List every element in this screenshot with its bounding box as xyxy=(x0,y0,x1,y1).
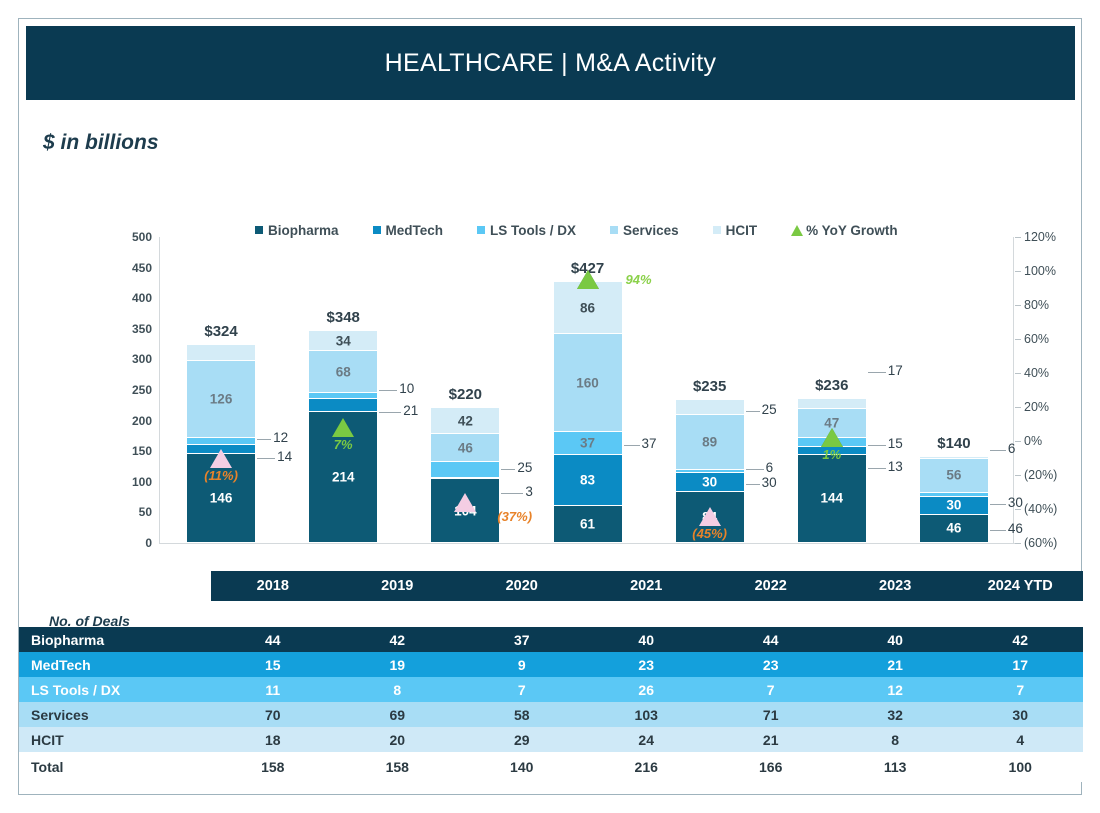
segment-value: 146 xyxy=(187,490,255,505)
callout-value: 13 xyxy=(888,459,903,474)
segment-biopharma[interactable]: 61 xyxy=(554,506,622,543)
segment-value: 61 xyxy=(554,516,622,531)
callout-leader-line xyxy=(379,412,401,413)
segment-value: 83 xyxy=(554,472,622,487)
cell-value: 26 xyxy=(584,677,708,702)
cell-value: 71 xyxy=(708,702,832,727)
segment-ls-tools-dx[interactable]: 37 xyxy=(554,432,622,455)
bar-total-label: $427 xyxy=(542,260,634,277)
callout-leader-line xyxy=(990,504,1006,505)
legend-label: Services xyxy=(623,223,679,238)
callout-leader-line xyxy=(990,530,1006,531)
segment-value: 42 xyxy=(431,413,499,428)
x-axis-line xyxy=(159,543,1015,544)
bar-total-label: $324 xyxy=(175,323,267,340)
cell-value: 2022 xyxy=(708,571,832,601)
callout-leader-line xyxy=(746,484,760,485)
segment-value: 68 xyxy=(309,364,377,379)
segment-biopharma[interactable]: 144 xyxy=(798,455,866,543)
table-spacer-row xyxy=(19,601,1083,627)
bar-2022[interactable]: 893084$235 xyxy=(676,400,744,543)
segment-value: 160 xyxy=(554,375,622,390)
cell-value: 158 xyxy=(211,752,335,782)
y-axis-tick-left: 450 xyxy=(132,261,152,275)
cell-value: 69 xyxy=(335,702,459,727)
row-label xyxy=(19,571,211,601)
table-row: MedTech1519923232117 xyxy=(19,652,1083,677)
cell-value: 7 xyxy=(957,677,1083,702)
legend-item-yoy-growth[interactable]: % YoY Growth xyxy=(791,223,898,238)
cell-value: 30 xyxy=(957,702,1083,727)
row-label: Services xyxy=(19,702,211,727)
segment-value: 30 xyxy=(920,498,988,513)
callout-value: 25 xyxy=(762,402,777,417)
cell-value: 23 xyxy=(584,652,708,677)
y-axis-tick-right: (40%) xyxy=(1024,502,1057,516)
y-axis-tick-mark xyxy=(1015,373,1021,374)
cell-value: 29 xyxy=(459,727,583,752)
chart-area: BiopharmaMedTechLS Tools / DXServicesHCI… xyxy=(19,199,1083,579)
bar-2018[interactable]: 126146$324 xyxy=(187,345,255,543)
cell-value: 140 xyxy=(459,752,583,782)
y-axis-tick-mark xyxy=(1015,271,1021,272)
y-axis-tick-right: 40% xyxy=(1024,366,1049,380)
cell-value: 2019 xyxy=(335,571,459,601)
cell-value: 2023 xyxy=(833,571,957,601)
cell-value: 18 xyxy=(211,727,335,752)
segment-services[interactable]: 56 xyxy=(920,459,988,493)
row-label: LS Tools / DX xyxy=(19,677,211,702)
bar-total-label: $140 xyxy=(908,435,1000,452)
cell-value: 113 xyxy=(833,752,957,782)
legend-label: HCIT xyxy=(726,223,758,238)
segment-medtech[interactable] xyxy=(187,445,255,454)
y-axis-tick-mark xyxy=(1015,441,1021,442)
y-axis-tick-right: 80% xyxy=(1024,298,1049,312)
segment-value: 144 xyxy=(798,491,866,506)
cell-value: 44 xyxy=(708,627,832,652)
segment-hcit[interactable]: 86 xyxy=(554,282,622,335)
bar-2021[interactable]: 86160378361$427 xyxy=(554,282,622,543)
segment-value: 89 xyxy=(676,434,744,449)
segment-value: 126 xyxy=(187,391,255,406)
y-axis-tick-left: 150 xyxy=(132,444,152,458)
legend-item-medtech[interactable]: MedTech xyxy=(373,223,444,238)
table-row: Services706958103713230 xyxy=(19,702,1083,727)
growth-triangle-icon xyxy=(791,225,803,236)
cell-value: 70 xyxy=(211,702,335,727)
table-header-row: 2018201920202021202220232024 YTD xyxy=(19,571,1083,601)
y-axis-tick-mark xyxy=(1015,543,1021,544)
y-axis-tick-left: 0 xyxy=(145,536,152,550)
callout-leader-line xyxy=(501,469,515,470)
cell-value: 216 xyxy=(584,752,708,782)
row-label: MedTech xyxy=(19,652,211,677)
segment-value: 214 xyxy=(309,470,377,485)
y-axis-tick-right: (60%) xyxy=(1024,536,1057,550)
segment-value: 84 xyxy=(676,509,744,524)
cell-value: 21 xyxy=(708,727,832,752)
segment-hcit[interactable]: 42 xyxy=(431,408,499,434)
y-axis-tick-left: 300 xyxy=(132,352,152,366)
legend-label: % YoY Growth xyxy=(806,223,898,238)
callout-value: 10 xyxy=(399,381,414,396)
legend-item-services[interactable]: Services xyxy=(610,223,679,238)
cell-value: 9 xyxy=(459,652,583,677)
y-axis-tick-mark xyxy=(1015,407,1021,408)
legend-item-biopharma[interactable]: Biopharma xyxy=(255,223,339,238)
segment-value: 56 xyxy=(920,468,988,483)
table-row: LS Tools / DX1187267127 xyxy=(19,677,1083,702)
y-axis-tick-mark xyxy=(1015,339,1021,340)
legend-swatch-icon xyxy=(477,226,485,234)
table-total-row: Total158158140216166113100 xyxy=(19,752,1083,782)
spacer-cell xyxy=(19,601,1083,627)
subtitle: $ in billions xyxy=(43,131,159,155)
segment-value: 34 xyxy=(309,333,377,348)
cell-value: 7 xyxy=(459,677,583,702)
table-row: HCIT182029242184 xyxy=(19,727,1083,752)
callout-leader-line xyxy=(624,445,640,446)
segment-medtech[interactable]: 30 xyxy=(676,473,744,491)
y-axis-tick-mark xyxy=(1015,237,1021,238)
cell-value: 7 xyxy=(708,677,832,702)
y-axis-tick-left: 100 xyxy=(132,475,152,489)
y-axis-tick-left: 500 xyxy=(132,230,152,244)
callout-leader-line xyxy=(746,411,760,412)
deals-table-wrap: No. of Deals 201820192020202120222023202… xyxy=(19,571,1083,782)
y-axis-tick-right: 60% xyxy=(1024,332,1049,346)
legend-swatch-icon xyxy=(713,226,721,234)
segment-hcit[interactable] xyxy=(676,400,744,415)
segment-value: 86 xyxy=(554,300,622,315)
row-label: Biopharma xyxy=(19,627,211,652)
callout-value: 14 xyxy=(277,449,292,464)
row-label: Total xyxy=(19,752,211,782)
callout-leader-line xyxy=(868,468,886,469)
deals-table: 2018201920202021202220232024 YTDBiopharm… xyxy=(19,571,1083,782)
callout-value: 15 xyxy=(888,436,903,451)
segment-medtech[interactable]: 30 xyxy=(920,497,988,515)
segment-value: 46 xyxy=(920,521,988,536)
cell-value: 32 xyxy=(833,702,957,727)
cell-value: 40 xyxy=(833,627,957,652)
segment-biopharma[interactable]: 214 xyxy=(309,412,377,543)
bar-total-label: $236 xyxy=(786,377,878,394)
callout-leader-line xyxy=(257,439,271,440)
callout-value: 6 xyxy=(766,460,774,475)
bar-2019[interactable]: 3468214$348 xyxy=(309,331,377,543)
page-title: HEALTHCARE | M&A Activity xyxy=(385,49,717,78)
segment-hcit[interactable]: 34 xyxy=(309,331,377,352)
segment-value: 30 xyxy=(676,474,744,489)
segment-biopharma[interactable]: 104 xyxy=(431,479,499,543)
y-axis-tick-right: 120% xyxy=(1024,230,1056,244)
yoy-growth-value: (37%) xyxy=(497,509,532,524)
callout-leader-line xyxy=(990,450,1006,451)
cell-value: 8 xyxy=(335,677,459,702)
segment-biopharma[interactable]: 46 xyxy=(920,515,988,543)
callout-leader-line xyxy=(257,458,275,459)
segment-ls-tools-dx[interactable] xyxy=(187,438,255,445)
y-axis-tick-mark xyxy=(1015,475,1021,476)
segment-services[interactable]: 47 xyxy=(798,409,866,438)
cell-value: 8 xyxy=(833,727,957,752)
callout-value: 6 xyxy=(1008,441,1016,456)
segment-services[interactable]: 160 xyxy=(554,334,622,432)
y-axis-tick-left: 350 xyxy=(132,322,152,336)
cell-value: 40 xyxy=(584,627,708,652)
y-axis-tick-right: (20%) xyxy=(1024,468,1057,482)
cell-value: 4 xyxy=(957,727,1083,752)
segment-medtech[interactable] xyxy=(309,399,377,412)
plot-area: 500450400350300250200150100500120%100%80… xyxy=(159,237,1014,543)
y-axis-tick-left: 250 xyxy=(132,383,152,397)
segment-biopharma[interactable]: 84 xyxy=(676,492,744,543)
callout-value: 17 xyxy=(888,363,903,378)
bar-2023[interactable]: 47144$236 xyxy=(798,399,866,543)
y-axis-tick-left: 50 xyxy=(139,505,152,519)
segment-medtech[interactable] xyxy=(798,447,866,455)
y-axis-tick-left: 200 xyxy=(132,414,152,428)
cell-value: 42 xyxy=(957,627,1083,652)
bar-2024-ytd[interactable]: 563046$140 xyxy=(920,457,988,543)
cell-value: 23 xyxy=(708,652,832,677)
cell-value: 17 xyxy=(957,652,1083,677)
bar-2020[interactable]: 4246104$220 xyxy=(431,408,499,543)
callout-value: 37 xyxy=(642,436,657,451)
callout-value: 3 xyxy=(525,484,533,499)
cell-value: 12 xyxy=(833,677,957,702)
segment-services[interactable]: 126 xyxy=(187,361,255,438)
segment-biopharma[interactable]: 146 xyxy=(187,454,255,543)
cell-value: 37 xyxy=(459,627,583,652)
callout-leader-line xyxy=(501,493,523,494)
legend-label: Biopharma xyxy=(268,223,339,238)
segment-hcit[interactable] xyxy=(187,345,255,360)
cell-value: 2018 xyxy=(211,571,335,601)
y-axis-tick-left: 400 xyxy=(132,291,152,305)
callout-leader-line xyxy=(746,469,764,470)
segment-value: 47 xyxy=(798,415,866,430)
cell-value: 44 xyxy=(211,627,335,652)
table-row: Biopharma44423740444042 xyxy=(19,627,1083,652)
callout-value: 25 xyxy=(517,460,532,475)
bar-total-label: $348 xyxy=(297,309,389,326)
cell-value: 166 xyxy=(708,752,832,782)
cell-value: 15 xyxy=(211,652,335,677)
segment-value: 37 xyxy=(554,436,622,451)
bar-total-label: $220 xyxy=(419,386,511,403)
segment-hcit[interactable] xyxy=(798,399,866,409)
legend-swatch-icon xyxy=(255,226,263,234)
no-of-deals-label: No. of Deals xyxy=(49,613,130,629)
legend-swatch-icon xyxy=(373,226,381,234)
legend-item-hcit[interactable]: HCIT xyxy=(713,223,758,238)
y-axis-tick-right: 20% xyxy=(1024,400,1049,414)
segment-services[interactable]: 68 xyxy=(309,351,377,393)
callout-value: 46 xyxy=(1008,521,1023,536)
cell-value: 21 xyxy=(833,652,957,677)
callout-leader-line xyxy=(868,445,886,446)
cell-value: 100 xyxy=(957,752,1083,782)
cell-value: 103 xyxy=(584,702,708,727)
legend-label: LS Tools / DX xyxy=(490,223,576,238)
cell-value: 2020 xyxy=(459,571,583,601)
row-label: HCIT xyxy=(19,727,211,752)
segment-value: 104 xyxy=(431,503,499,518)
callout-value: 12 xyxy=(273,430,288,445)
y-axis-tick-right: 0% xyxy=(1024,434,1042,448)
segment-value: 46 xyxy=(431,440,499,455)
segment-ls-tools-dx[interactable] xyxy=(798,438,866,447)
cell-value: 2024 YTD xyxy=(957,571,1083,601)
callout-leader-line xyxy=(868,372,886,373)
legend-swatch-icon xyxy=(610,226,618,234)
segment-services[interactable]: 46 xyxy=(431,434,499,462)
cell-value: 24 xyxy=(584,727,708,752)
cell-value: 158 xyxy=(335,752,459,782)
segment-services[interactable]: 89 xyxy=(676,415,744,469)
y-axis-tick-right: 100% xyxy=(1024,264,1056,278)
segment-medtech[interactable]: 83 xyxy=(554,455,622,506)
callout-value: 21 xyxy=(403,403,418,418)
callout-value: 30 xyxy=(1008,495,1023,510)
cell-value: 20 xyxy=(335,727,459,752)
cell-value: 58 xyxy=(459,702,583,727)
cell-value: 42 xyxy=(335,627,459,652)
cell-value: 11 xyxy=(211,677,335,702)
legend-item-ls-tools-dx[interactable]: LS Tools / DX xyxy=(477,223,576,238)
cell-value: 2021 xyxy=(584,571,708,601)
legend-label: MedTech xyxy=(386,223,444,238)
cell-value: 19 xyxy=(335,652,459,677)
segment-ls-tools-dx[interactable] xyxy=(431,462,499,477)
bar-total-label: $235 xyxy=(664,378,756,395)
y-axis-tick-mark xyxy=(1015,305,1021,306)
title-bar: HEALTHCARE | M&A Activity xyxy=(26,26,1075,100)
callout-leader-line xyxy=(379,390,397,391)
callout-value: 30 xyxy=(762,475,777,490)
slide: HEALTHCARE | M&A Activity $ in billions … xyxy=(18,18,1082,795)
